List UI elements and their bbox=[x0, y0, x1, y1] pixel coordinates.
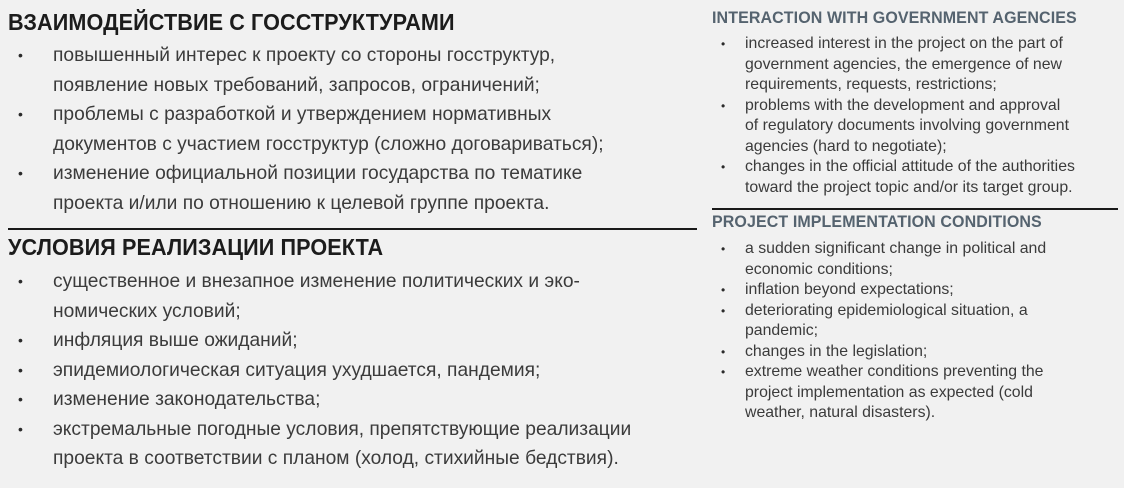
section-government-interaction-en: INTERACTION WITH GOVERNMENT AGENCIES • i… bbox=[712, 0, 1118, 198]
list-item: • changes in the official attitude of th… bbox=[712, 157, 1118, 198]
bullet-icon: • bbox=[721, 239, 735, 260]
section-government-interaction-ru: ВЗАИМОДЕЙСТВИЕ С ГОССТРУКТУРАМИ • повыше… bbox=[8, 0, 697, 218]
left-column-russian: ВЗАИМОДЕЙСТВИЕ С ГОССТРУКТУРАМИ • повыше… bbox=[0, 0, 705, 488]
bullet-icon: • bbox=[18, 41, 32, 71]
section-implementation-conditions-en: PROJECT IMPLEMENTATION CONDITIONS • a su… bbox=[712, 210, 1118, 424]
list-item: • повышенный интерес к проекту со сторон… bbox=[8, 41, 697, 100]
list-item: • inflation beyond expectations; bbox=[712, 280, 1118, 301]
section-divider-left-wrap bbox=[8, 218, 697, 230]
section-implementation-conditions-ru: УСЛОВИЯ РЕАЛИЗАЦИИ ПРОЕКТА • существенно… bbox=[8, 230, 697, 474]
list-item-text: эпидемиологическая ситуация ухудшается, … bbox=[53, 356, 687, 386]
bullet-icon: • bbox=[18, 267, 32, 297]
section-heading-implementation-conditions-ru: УСЛОВИЯ РЕАЛИЗАЦИИ ПРОЕКТА bbox=[8, 230, 656, 266]
bullet-icon: • bbox=[18, 415, 32, 445]
risk-list-implementation-conditions-ru: • существенное и внезапное изменение пол… bbox=[8, 266, 697, 474]
list-item-text: changes in the official attitude of the … bbox=[745, 157, 1114, 198]
bullet-icon: • bbox=[18, 159, 32, 189]
risk-list-government-interaction-ru: • повышенный интерес к проекту со сторон… bbox=[8, 41, 697, 218]
bullet-icon: • bbox=[18, 356, 32, 386]
bullet-icon: • bbox=[18, 385, 32, 415]
list-item-text: changes in the legislation; bbox=[745, 342, 1114, 363]
section-heading-implementation-conditions-en: PROJECT IMPLEMENTATION CONDITIONS bbox=[712, 210, 1106, 238]
list-item: • проблемы с разработкой и утверждением … bbox=[8, 100, 697, 159]
list-item: • increased interest in the project on t… bbox=[712, 34, 1118, 96]
list-item: • экстремальные погодные условия, препят… bbox=[8, 415, 697, 474]
bullet-icon: • bbox=[721, 280, 735, 301]
bullet-icon: • bbox=[721, 301, 735, 322]
right-column-english: INTERACTION WITH GOVERNMENT AGENCIES • i… bbox=[705, 0, 1124, 488]
bullet-icon: • bbox=[721, 342, 735, 363]
section-divider-right-wrap bbox=[712, 198, 1118, 210]
list-item: • существенное и внезапное изменение пол… bbox=[8, 267, 697, 326]
list-item: • эпидемиологическая ситуация ухудшается… bbox=[8, 356, 697, 386]
bullet-icon: • bbox=[721, 157, 735, 178]
list-item-text: a sudden significant change in political… bbox=[745, 239, 1114, 280]
bullet-icon: • bbox=[18, 326, 32, 356]
list-item-text: increased interest in the project on the… bbox=[745, 34, 1114, 96]
list-item: • changes in the legislation; bbox=[712, 342, 1118, 363]
list-item: • deteriorating epidemiological situatio… bbox=[712, 301, 1118, 342]
list-item-text: inflation beyond expectations; bbox=[745, 280, 1114, 301]
bullet-icon: • bbox=[18, 100, 32, 130]
list-item: • изменение законодательства; bbox=[8, 385, 697, 415]
list-item-text: существенное и внезапное изменение полит… bbox=[53, 267, 687, 326]
risk-list-implementation-conditions-en: • a sudden significant change in politic… bbox=[712, 238, 1118, 424]
list-item: • problems with the development and appr… bbox=[712, 96, 1118, 158]
list-item: • a sudden significant change in politic… bbox=[712, 239, 1118, 280]
section-heading-government-interaction-ru: ВЗАИМОДЕЙСТВИЕ С ГОССТРУКТУРАМИ bbox=[8, 5, 656, 41]
bullet-icon: • bbox=[721, 362, 735, 383]
list-item-text: problems with the development and approv… bbox=[745, 96, 1114, 158]
list-item-text: extreme weather conditions preventing th… bbox=[745, 362, 1114, 424]
list-item-text: экстремальные погодные условия, препятст… bbox=[53, 415, 687, 474]
risk-list-government-interaction-en: • increased interest in the project on t… bbox=[712, 34, 1118, 198]
bullet-icon: • bbox=[721, 96, 735, 117]
list-item-text: изменение законодательства; bbox=[53, 385, 687, 415]
list-item: • extreme weather conditions preventing … bbox=[712, 362, 1118, 424]
list-item-text: инфляция выше ожиданий; bbox=[53, 326, 687, 356]
list-item-text: повышенный интерес к проекту со стороны … bbox=[53, 41, 687, 100]
section-heading-government-interaction-en: INTERACTION WITH GOVERNMENT AGENCIES bbox=[712, 6, 1106, 34]
list-item-text: изменение официальной позиции государств… bbox=[53, 159, 687, 218]
list-item-text: проблемы с разработкой и утверждением но… bbox=[53, 100, 687, 159]
list-item: • изменение официальной позиции государс… bbox=[8, 159, 697, 218]
list-item: • инфляция выше ожиданий; bbox=[8, 326, 697, 356]
bullet-icon: • bbox=[721, 34, 735, 55]
slide-root: ВЗАИМОДЕЙСТВИЕ С ГОССТРУКТУРАМИ • повыше… bbox=[0, 0, 1124, 488]
list-item-text: deteriorating epidemiological situation,… bbox=[745, 301, 1114, 342]
